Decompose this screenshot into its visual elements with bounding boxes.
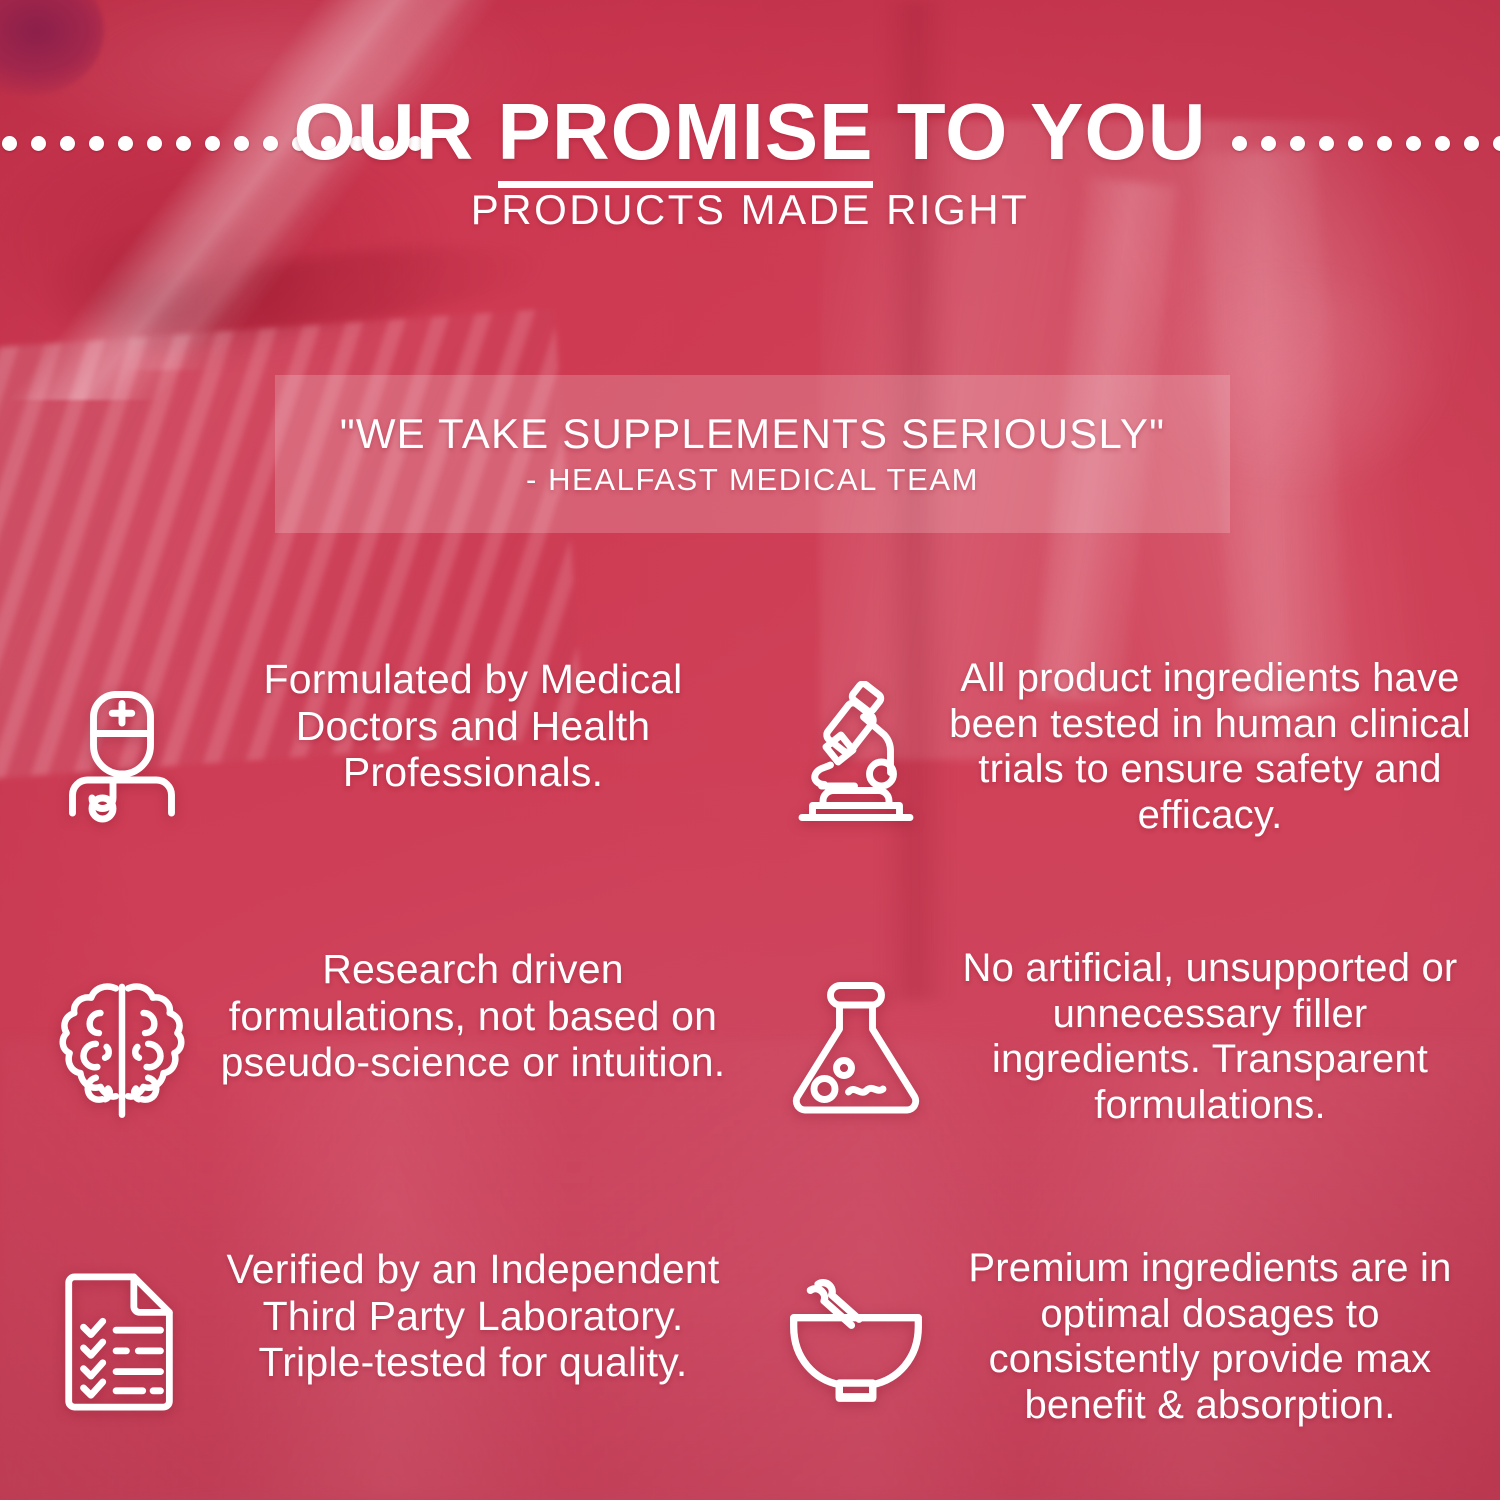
- microscope-icon: [768, 668, 944, 844]
- quote-author: - HEALFAST MEDICAL TEAM: [526, 462, 979, 498]
- feature-text: All product ingredients have been tested…: [944, 650, 1476, 838]
- feature-text: Premium ingredients are in optimal dosag…: [944, 1240, 1476, 1428]
- feature-item-optimal-dosages: Premium ingredients are in optimal dosag…: [750, 1240, 1500, 1490]
- feature-text: Verified by an Independent Third Party L…: [210, 1240, 736, 1386]
- mortar-pestle-icon: [768, 1254, 944, 1430]
- page-title-emphasis: PROMISE: [498, 87, 874, 188]
- page-title-part1: OUR: [294, 87, 498, 176]
- page-title-part2: TO YOU: [873, 87, 1206, 176]
- feature-text: Formulated by Medical Doctors and Health…: [210, 650, 736, 796]
- feature-item-no-fillers: No artificial, unsupported or unnecessar…: [750, 940, 1500, 1240]
- page-subtitle: PRODUCTS MADE RIGHT: [0, 186, 1500, 234]
- quote-text: "WE TAKE SUPPLEMENTS SERIOUSLY": [340, 410, 1166, 458]
- feature-item-clinical-trials: All product ingredients have been tested…: [750, 650, 1500, 940]
- feature-item-formulated-by-doctors: Formulated by Medical Doctors and Health…: [0, 650, 750, 940]
- quote-panel: "WE TAKE SUPPLEMENTS SERIOUSLY" - HEALFA…: [275, 375, 1230, 533]
- brain-icon: [34, 962, 210, 1138]
- promise-infographic: OUR PROMISE TO YOU PRODUCTS MADE RIGHT "…: [0, 0, 1500, 1500]
- feature-item-research-driven: Research driven formulations, not based …: [0, 940, 750, 1240]
- feature-text: Research driven formulations, not based …: [210, 940, 736, 1086]
- document-checklist-icon: [34, 1254, 210, 1430]
- feature-text: No artificial, unsupported or unnecessar…: [944, 940, 1476, 1128]
- page-title: OUR PROMISE TO YOU: [0, 92, 1500, 172]
- features-grid: Formulated by Medical Doctors and Health…: [0, 650, 1500, 1490]
- doctor-icon: [34, 668, 210, 844]
- feature-item-third-party-verified: Verified by an Independent Third Party L…: [0, 1240, 750, 1490]
- flask-icon: [768, 962, 944, 1138]
